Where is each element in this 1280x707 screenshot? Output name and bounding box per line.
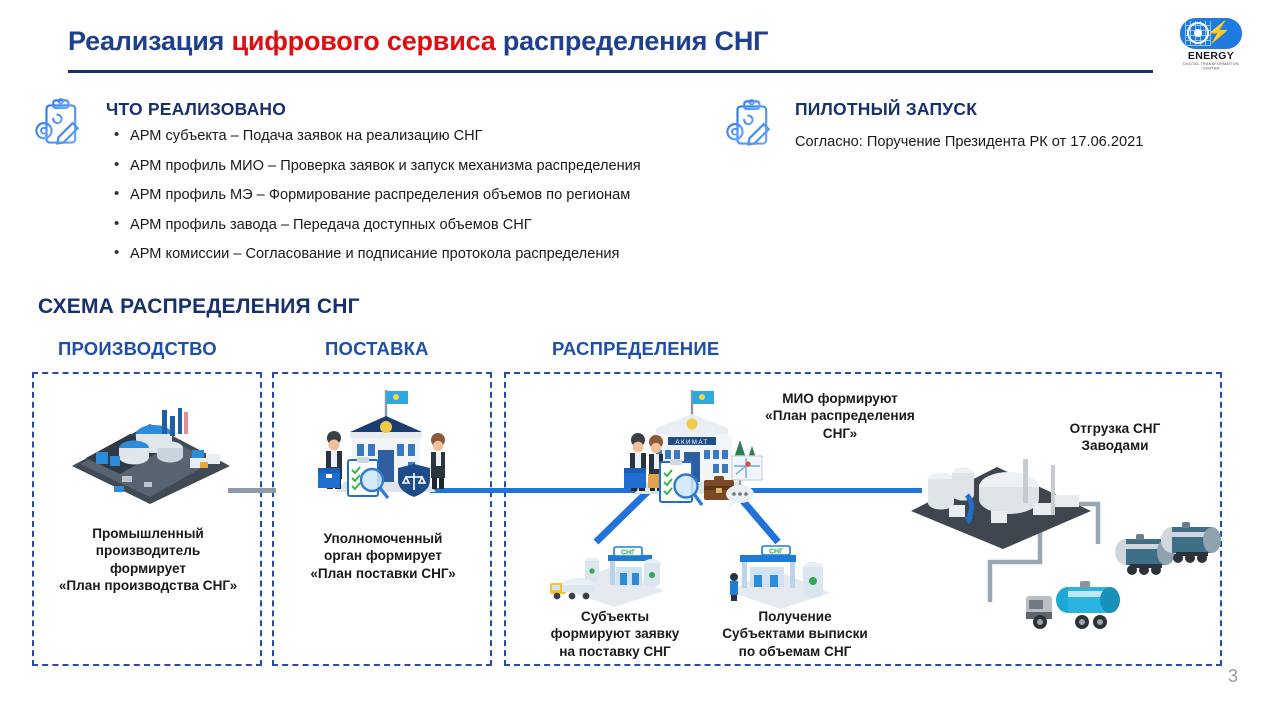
refinery-illustration xyxy=(905,445,1105,555)
list-item: АРМ субъекта – Подача заявок на реализац… xyxy=(106,129,641,144)
slide: Реализация цифрового сервиса распределен… xyxy=(0,0,1280,707)
clipboard-gear-icon-pilot xyxy=(724,98,778,152)
page-number: 3 xyxy=(1228,666,1238,687)
implemented-list: АРМ субъекта – Подача заявок на реализац… xyxy=(106,129,641,262)
logo-subtitle: DIGITAL TRANSFORMATION CENTER xyxy=(1178,62,1244,71)
page-title: Реализация цифрового сервиса распределен… xyxy=(68,26,768,57)
caption-mio: МИО формируют «План распределения СНГ» xyxy=(745,390,935,442)
caption-subjects-request: Субъекты формируют заявку на поставку СН… xyxy=(525,608,705,660)
caption-authority: Уполномоченный орган формирует «План пос… xyxy=(280,530,486,582)
industrial-plant-illustration xyxy=(62,404,237,509)
implemented-block: ЧТО РЕАЛИЗОВАНО АРМ субъекта – Подача за… xyxy=(106,99,641,277)
clipboard-gear-icon xyxy=(33,97,87,151)
caption-shipment: Отгрузка СНГ Заводами xyxy=(1040,420,1190,455)
title-divider xyxy=(68,70,1153,73)
energy-logo: ⚡ ENERGY DIGITAL TRANSFORMATION CENTER xyxy=(1178,18,1244,74)
caption-subjects-statement: Получение Субъектами выписки по объемам … xyxy=(700,608,890,660)
caption-producer: Промышленный производитель формирует «Пл… xyxy=(40,525,256,594)
station-sign-left: СНГ xyxy=(621,550,635,557)
pilot-block: ПИЛОТНЫЙ ЗАПУСК Согласно: Поручение През… xyxy=(795,99,1143,150)
title-part-2: распределения СНГ xyxy=(496,26,769,56)
lightning-bolt-icon: ⚡ xyxy=(1206,22,1232,44)
authority-building-illustration xyxy=(310,388,460,508)
title-highlight: цифрового сервиса xyxy=(231,26,495,56)
logo-badge-icon: ⚡ xyxy=(1180,18,1242,49)
column-heading-supply: ПОСТАВКА xyxy=(325,338,429,360)
gas-station-right-illustration: СНГ xyxy=(718,533,838,609)
logo-name: ENERGY xyxy=(1178,50,1244,62)
scheme-title: СХЕМА РАСПРЕДЕЛЕНИЯ СНГ xyxy=(38,295,360,319)
column-heading-production: ПРОИЗВОДСТВО xyxy=(58,338,217,360)
column-heading-distribution: РАСПРЕДЕЛЕНИЕ xyxy=(552,338,719,360)
list-item: АРМ профиль МИО – Проверка заявок и запу… xyxy=(106,159,641,174)
tanker-truck-illustration xyxy=(1022,570,1147,636)
list-item: АРМ профиль завода – Передача доступных … xyxy=(106,218,641,233)
pilot-heading: ПИЛОТНЫЙ ЗАПУСК xyxy=(795,99,1143,120)
akimat-sign-text: АКИМАТ xyxy=(675,439,708,446)
list-item: АРМ комиссии – Согласование и подписание… xyxy=(106,247,641,262)
implemented-heading: ЧТО РЕАЛИЗОВАНО xyxy=(106,99,641,120)
title-part-1: Реализация xyxy=(68,26,231,56)
gas-station-left-illustration: СНГ xyxy=(548,533,668,609)
pilot-note: Согласно: Поручение Президента РК от 17.… xyxy=(795,134,1143,150)
station-sign-right: СНГ xyxy=(769,549,783,556)
list-item: АРМ профиль МЭ – Формирование распределе… xyxy=(106,188,641,203)
